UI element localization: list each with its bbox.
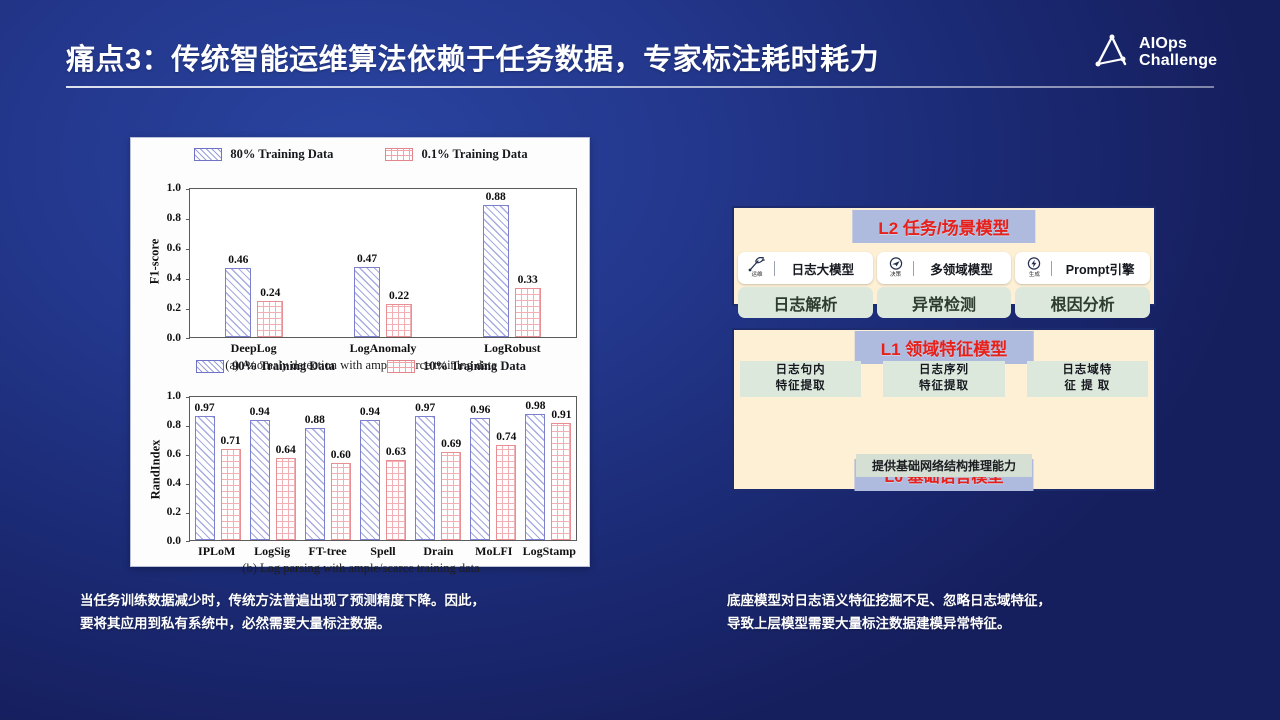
legend-swatch-blue-icon <box>194 148 222 161</box>
aiops-triangle-mark-icon <box>1092 32 1132 72</box>
l2-level-label: L2 任务/场景模型 <box>852 210 1035 243</box>
pillar-task-log-parsing[interactable]: 日志解析 <box>738 287 873 318</box>
pillar-task-root-cause-analysis[interactable]: 根因分析 <box>1015 287 1150 318</box>
y-tick: 0.8 <box>167 419 181 431</box>
pillar-divider <box>774 261 775 276</box>
bar-spell-scarce: 0.63 <box>386 460 406 540</box>
y-tick: 1.0 <box>167 390 181 402</box>
pillar-root-cause-analysis[interactable]: 生成 Prompt引擎 根因分析 <box>1015 252 1150 320</box>
legend-label-scarce: 10% Training Data <box>423 359 526 374</box>
pillar-top-multidomain-model[interactable]: 决策 多领域模型 <box>877 252 1012 284</box>
bar-value: 0.46 <box>228 254 248 266</box>
l2-pillars: 运维 日志大模型 日志解析 决策 多领域模型 异常检测 <box>738 252 1150 320</box>
chart-b-legend: 90% Training Data 10% Training Data <box>137 354 585 376</box>
bar-group-spell: 0.94 0.63 <box>355 397 410 540</box>
feature-box-sequence[interactable]: 日志序列 特征提取 <box>883 361 1004 397</box>
y-tick: 0.2 <box>167 302 181 314</box>
y-tick: 0.4 <box>167 272 181 284</box>
pillar-top-prompt-engine[interactable]: 生成 Prompt引擎 <box>1015 252 1150 284</box>
y-tick: 1.0 <box>167 182 181 194</box>
y-tick: 0.4 <box>167 477 181 489</box>
bar-deeplog-ample: 0.46 <box>225 268 251 337</box>
pillar-label-prompt-engine: Prompt引擎 <box>1057 259 1143 278</box>
logo-line-aiops: AIOps <box>1139 35 1217 52</box>
header-divider <box>66 86 1214 88</box>
feature-box-intra-sentence[interactable]: 日志句内 特征提取 <box>740 361 861 397</box>
legend-label-scarce: 0.1% Training Data <box>421 147 527 162</box>
y-tick: 0.8 <box>167 212 181 224</box>
l1-level-label: L1 领域特征模型 <box>855 331 1034 364</box>
feature-box-domain[interactable]: 日志域特 征 提 取 <box>1027 361 1148 397</box>
pillar-task-anomaly-detection[interactable]: 异常检测 <box>877 287 1012 318</box>
legend-item-scarce: 0.1% Training Data <box>385 147 527 162</box>
caption-left: 当任务训练数据减少时，传统方法普遍出现了预测精度下降。因此， 要将其应用到私有系… <box>80 590 680 636</box>
chart-panel: 80% Training Data 0.1% Training Data F1-… <box>130 137 590 567</box>
pillar-divider <box>913 261 914 276</box>
legend-item-ample: 80% Training Data <box>194 147 333 162</box>
aiops-challenge-logo: AIOps Challenge <box>1092 32 1217 72</box>
bar-loganomaly-scarce: 0.22 <box>386 304 412 337</box>
chart-b-caption: (b) Log parsing with ample/scarce traini… <box>137 561 585 576</box>
x-tick: LogStamp <box>522 544 577 559</box>
bar-group-logsig: 0.94 0.64 <box>245 397 300 540</box>
bar-value: 0.63 <box>386 446 406 458</box>
legend-label-ample: 80% Training Data <box>230 147 333 162</box>
chart-b-axes: 0.97 0.71 0.94 0.64 <box>189 396 577 541</box>
chart-b-y-ticks: 1.0 0.8 0.6 0.4 0.2 0.0 <box>151 396 185 541</box>
bar-fttree-ample: 0.88 <box>305 428 325 540</box>
pillar-anomaly-detection[interactable]: 决策 多领域模型 异常检测 <box>877 252 1012 320</box>
pillar-divider <box>1051 261 1052 276</box>
bar-value: 0.97 <box>415 402 435 414</box>
chart-a-axes: 0.46 0.24 0.47 0.22 <box>189 188 577 338</box>
legend-swatch-red-icon <box>385 148 413 161</box>
caption-right: 底座模型对日志语义特征挖掘不足、忽略日志域特征， 导致上层模型需要大量标注数据建… <box>727 590 1247 636</box>
bar-value: 0.47 <box>357 253 377 265</box>
chart-anomaly-detection: 80% Training Data 0.1% Training Data F1-… <box>137 142 585 354</box>
bar-value: 0.74 <box>496 431 516 443</box>
feature-line-1: 日志域特 <box>1062 363 1112 379</box>
l1-feature-boxes: 日志句内 特征提取 日志序列 特征提取 日志域特 征 提 取 <box>740 361 1148 397</box>
bar-value: 0.22 <box>389 290 409 302</box>
bar-value: 0.88 <box>305 414 325 426</box>
bar-logsig-scarce: 0.64 <box>276 458 296 540</box>
bar-molfi-scarce: 0.74 <box>496 445 516 540</box>
chart-b-x-ticks: IPLoM LogSig FT-tree Spell Drain MoLFI L… <box>189 544 577 559</box>
x-tick: MoLFI <box>466 544 521 559</box>
bar-value: 0.91 <box>551 409 571 421</box>
bar-value: 0.33 <box>518 274 538 286</box>
airplane-circle-icon: 决策 <box>884 257 908 279</box>
bar-molfi-ample: 0.96 <box>470 418 490 540</box>
bar-value: 0.94 <box>250 406 270 418</box>
bar-group-iplom: 0.97 0.71 <box>190 397 245 540</box>
bar-value: 0.60 <box>331 449 351 461</box>
chart-log-parsing: 90% Training Data 10% Training Data Rand… <box>137 354 585 560</box>
bar-logstamp-scarce: 0.91 <box>551 423 571 540</box>
legend-swatch-red-icon <box>387 360 415 373</box>
y-tick: 0.6 <box>167 242 181 254</box>
bar-group-logrobust: 0.88 0.33 <box>447 189 576 337</box>
bar-logrobust-ample: 0.88 <box>483 205 509 337</box>
page-title: 痛点3：传统智能运维算法依赖于任务数据，专家标注耗时耗力 <box>66 36 879 78</box>
bar-loganomaly-ample: 0.47 <box>354 267 380 338</box>
feature-line-2: 征 提 取 <box>1064 379 1110 395</box>
pillar-label-multidomain-model: 多领域模型 <box>919 259 1005 278</box>
pillar-log-parsing[interactable]: 运维 日志大模型 日志解析 <box>738 252 873 320</box>
bar-drain-scarce: 0.69 <box>441 452 461 540</box>
x-tick: FT-tree <box>300 544 355 559</box>
y-tick: 0.2 <box>167 506 181 518</box>
legend-item-scarce: 10% Training Data <box>387 359 526 374</box>
y-tick: 0.0 <box>167 535 181 547</box>
legend-swatch-blue-icon <box>196 360 224 373</box>
bar-value: 0.71 <box>221 435 241 447</box>
bar-value: 0.94 <box>360 406 380 418</box>
bar-logrobust-scarce: 0.33 <box>515 288 541 338</box>
bar-value: 0.64 <box>276 444 296 456</box>
bar-logstamp-ample: 0.98 <box>525 414 545 540</box>
bar-group-deeplog: 0.46 0.24 <box>190 189 319 337</box>
bar-group-logstamp: 0.98 0.91 <box>521 397 576 540</box>
y-tick: 0.6 <box>167 448 181 460</box>
page-header: 痛点3：传统智能运维算法依赖于任务数据，专家标注耗时耗力 AIOps Chall… <box>0 0 1280 95</box>
x-tick: Spell <box>355 544 410 559</box>
legend-item-ample: 90% Training Data <box>196 359 335 374</box>
chart-a-y-ticks: 1.0 0.8 0.6 0.4 0.2 0.0 <box>151 188 185 338</box>
feature-line-2: 特征提取 <box>776 379 826 395</box>
bar-group-fttree: 0.88 0.60 <box>300 397 355 540</box>
bar-spell-ample: 0.94 <box>360 420 380 540</box>
chart-a-bar-groups: 0.46 0.24 0.47 0.22 <box>190 189 576 337</box>
feature-line-1: 日志句内 <box>776 363 826 379</box>
satellite-dish-icon: 运维 <box>745 257 769 279</box>
lightning-circle-icon: 生成 <box>1022 257 1046 279</box>
feature-line-1: 日志序列 <box>919 363 969 379</box>
logo-wordmark: AIOps Challenge <box>1139 35 1217 70</box>
logo-line-challenge: Challenge <box>1139 52 1217 69</box>
legend-label-ample: 90% Training Data <box>232 359 335 374</box>
x-tick: IPLoM <box>189 544 244 559</box>
y-tick: 0.0 <box>167 332 181 344</box>
bar-iplom-ample: 0.97 <box>195 416 215 540</box>
feature-line-2: 特征提取 <box>919 379 969 395</box>
x-tick: Drain <box>411 544 466 559</box>
pillar-label-log-model: 日志大模型 <box>780 259 866 278</box>
chart-b-bar-groups: 0.97 0.71 0.94 0.64 <box>190 397 576 540</box>
x-tick: LogSig <box>244 544 299 559</box>
pillar-top-log-model[interactable]: 运维 日志大模型 <box>738 252 873 284</box>
bar-value: 0.69 <box>441 438 461 450</box>
bar-group-molfi: 0.96 0.74 <box>466 397 521 540</box>
architecture-diagram: L2 任务/场景模型 运维 日志大模型 日志解析 <box>732 206 1156 491</box>
bar-drain-ample: 0.97 <box>415 416 435 540</box>
icon-caption: 运维 <box>751 273 762 279</box>
bar-logsig-ample: 0.94 <box>250 420 270 540</box>
bar-deeplog-scarce: 0.24 <box>257 301 283 337</box>
bar-value: 0.97 <box>195 402 215 414</box>
bar-value: 0.24 <box>260 287 280 299</box>
bar-value: 0.88 <box>486 191 506 203</box>
bar-value: 0.96 <box>470 404 490 416</box>
icon-caption: 生成 <box>1029 273 1040 279</box>
icon-caption: 决策 <box>890 273 901 279</box>
bar-group-loganomaly: 0.47 0.22 <box>319 189 448 337</box>
bar-fttree-scarce: 0.60 <box>331 463 351 540</box>
bar-iplom-scarce: 0.71 <box>221 449 241 540</box>
chart-a-legend: 80% Training Data 0.1% Training Data <box>137 142 585 164</box>
bar-group-drain: 0.97 0.69 <box>411 397 466 540</box>
l0-capability-note: 提供基础网络结构推理能力 <box>856 454 1032 477</box>
bar-value: 0.98 <box>525 400 545 412</box>
